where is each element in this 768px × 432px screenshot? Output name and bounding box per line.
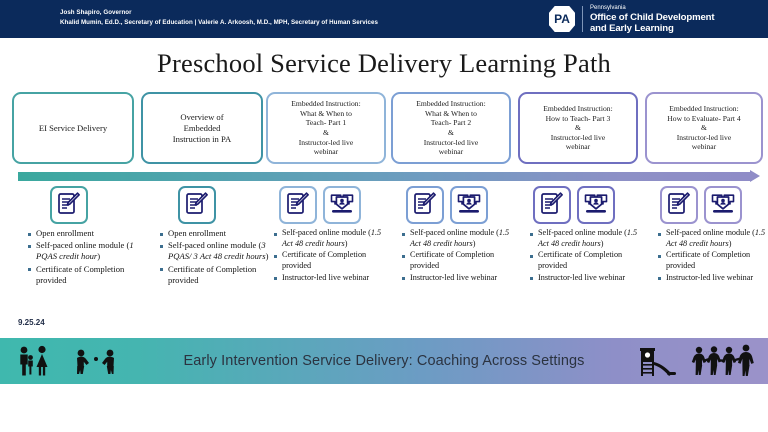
module-document-icon [539, 190, 565, 221]
stage-line: webinar [416, 147, 485, 157]
stage-line: How to Evaluate- Part 4 [667, 114, 740, 124]
bullet-list-2: Open enrollmentSelf-paced online module … [160, 228, 272, 286]
webinar-icon [710, 190, 736, 221]
bullet-item: Self-paced online module (1.5 Act 48 cre… [658, 228, 766, 249]
stage-box-row: EI Service Delivery Overview ofEmbeddedI… [0, 92, 768, 170]
stage-box-4[interactable]: Embedded Instruction:What & When toTeach… [391, 92, 511, 164]
detail-column-5: Self-paced online module (1.5 Act 48 cre… [530, 228, 638, 285]
stage-line: Instructor-led live [543, 133, 612, 143]
stage-box-6-label: Embedded Instruction:How to Evaluate- Pa… [663, 104, 744, 152]
module-document-icon [666, 190, 692, 221]
page-title: Preschool Service Delivery Learning Path [0, 48, 768, 79]
bullet-item: Certificate of Completion provided [28, 264, 138, 286]
stage-line: & [667, 123, 740, 133]
stage-line: Instructor-led live [416, 138, 485, 148]
secretaries-line: Khalid Mumin, Ed.D., Secretary of Educat… [60, 18, 480, 28]
stage-line: webinar [291, 147, 360, 157]
bullet-item: Open enrollment [28, 228, 138, 239]
detail-column-3: Self-paced online module (1.5 Act 48 cre… [274, 228, 390, 285]
footer-right-icons [634, 342, 756, 380]
stage-line: What & When to [416, 109, 485, 119]
stage-box-2[interactable]: Overview ofEmbeddedInstruction in PA [141, 92, 263, 164]
footer-banner: Early Intervention Service Delivery: Coa… [0, 338, 768, 384]
bullet-item: Self-paced online module (1.5 Act 48 cre… [530, 228, 638, 249]
tile-webinar-6[interactable] [704, 186, 742, 224]
stage-box-3-label: Embedded Instruction:What & When toTeach… [287, 99, 364, 157]
stage-box-4-label: Embedded Instruction:What & When toTeach… [412, 99, 489, 157]
tile-module-6[interactable] [660, 186, 698, 224]
stage-line: & [543, 123, 612, 133]
bullet-item: Open enrollment [160, 228, 272, 239]
logo-divider [582, 6, 583, 32]
bullet-item: Instructor-led live webinar [530, 273, 638, 284]
stage-line: What & When to [291, 109, 360, 119]
bullet-item: Self-paced online module (1 PQAS credit … [28, 240, 138, 262]
bullet-item: Instructor-led live webinar [658, 273, 766, 284]
stage-line: Teach- Part 2 [416, 118, 485, 128]
detail-column-6: Self-paced online module (1.5 Act 48 cre… [658, 228, 766, 285]
stage-line: Embedded [173, 123, 231, 134]
detail-column-1: Open enrollmentSelf-paced online module … [28, 228, 138, 287]
progress-arrow-bar [18, 172, 752, 181]
stage-line: webinar [667, 142, 740, 152]
stage-line: & [416, 128, 485, 138]
webinar-icon [456, 190, 482, 221]
bullet-list-5: Self-paced online module (1.5 Act 48 cre… [530, 228, 638, 284]
stage-line: webinar [543, 142, 612, 152]
module-document-icon [412, 190, 438, 221]
tile-webinar-5[interactable] [577, 186, 615, 224]
detail-column-2: Open enrollmentSelf-paced online module … [160, 228, 272, 287]
stage-line: Embedded Instruction: [543, 104, 612, 114]
module-document-icon [56, 190, 82, 221]
logo-line-office: Office of Child Development [590, 12, 714, 23]
stage-box-3[interactable]: Embedded Instruction:What & When toTeach… [266, 92, 386, 164]
stage-line: & [291, 128, 360, 138]
arrow-head-icon [750, 170, 760, 182]
governor-line: Josh Shapiro, Governor [60, 8, 480, 18]
tile-module-5[interactable] [533, 186, 571, 224]
stage-line: Embedded Instruction: [416, 99, 485, 109]
stage-box-1-label: EI Service Delivery [35, 123, 111, 134]
stage-box-6[interactable]: Embedded Instruction:How to Evaluate- Pa… [645, 92, 763, 164]
tile-module-3[interactable] [279, 186, 317, 224]
bullet-item: Self-paced online module (1.5 Act 48 cre… [274, 228, 390, 249]
stage-line: Instruction in PA [173, 134, 231, 145]
bullet-item: Certificate of Completion provided [274, 250, 390, 271]
bullet-list-6: Self-paced online module (1.5 Act 48 cre… [658, 228, 766, 284]
children-group-icon [690, 344, 756, 378]
bullet-item: Self-paced online module (3 PQAS/ 3 Act … [160, 240, 272, 262]
detail-columns: Open enrollmentSelf-paced online module … [0, 228, 768, 328]
bullet-item: Instructor-led live webinar [402, 273, 518, 284]
stage-line: Embedded Instruction: [667, 104, 740, 114]
ocdel-logo: PA Pennsylvania Office of Child Developm… [549, 4, 714, 34]
bullet-item: Instructor-led live webinar [274, 273, 390, 284]
stage-line: Overview of [173, 112, 231, 123]
stage-line: Embedded Instruction: [291, 99, 360, 109]
tile-webinar-4[interactable] [450, 186, 488, 224]
logo-line-early-learning: and Early Learning [590, 23, 714, 34]
date-stamp: 9.25.24 [18, 318, 45, 327]
bullet-item: Certificate of Completion provided [530, 250, 638, 271]
stage-line: Instructor-led live [667, 133, 740, 143]
tile-module-2[interactable] [178, 186, 216, 224]
logo-line-pennsylvania: Pennsylvania [590, 4, 714, 12]
bullet-list-4: Self-paced online module (1.5 Act 48 cre… [402, 228, 518, 284]
officials-text: Josh Shapiro, Governor Khalid Mumin, Ed.… [60, 8, 480, 28]
bullet-item: Certificate of Completion provided [160, 264, 272, 286]
stage-box-5[interactable]: Embedded Instruction:How to Teach- Part … [518, 92, 638, 164]
stage-line: EI Service Delivery [39, 123, 107, 134]
stage-line: Instructor-led live [291, 138, 360, 148]
webinar-icon [329, 190, 355, 221]
tile-webinar-3[interactable] [323, 186, 361, 224]
bullet-list-1: Open enrollmentSelf-paced online module … [28, 228, 138, 286]
stage-line: How to Teach- Part 3 [543, 114, 612, 124]
playground-slide-icon [634, 344, 680, 378]
pa-keystone-icon: PA [549, 6, 575, 32]
bullet-item: Certificate of Completion provided [402, 250, 518, 271]
icon-tile-row [0, 186, 768, 226]
tile-module-1[interactable] [50, 186, 88, 224]
stage-box-1[interactable]: EI Service Delivery [12, 92, 134, 164]
module-document-icon [184, 190, 210, 221]
detail-column-4: Self-paced online module (1.5 Act 48 cre… [402, 228, 518, 285]
webinar-icon [583, 190, 609, 221]
page-header: Josh Shapiro, Governor Khalid Mumin, Ed.… [0, 0, 768, 38]
tile-module-4[interactable] [406, 186, 444, 224]
stage-line: Teach- Part 1 [291, 118, 360, 128]
stage-box-2-label: Overview ofEmbeddedInstruction in PA [169, 112, 235, 145]
bullet-list-3: Self-paced online module (1.5 Act 48 cre… [274, 228, 390, 284]
bullet-item: Certificate of Completion provided [658, 250, 766, 271]
bullet-item: Self-paced online module (1.5 Act 48 cre… [402, 228, 518, 249]
logo-text: Pennsylvania Office of Child Development… [590, 4, 714, 34]
stage-box-5-label: Embedded Instruction:How to Teach- Part … [539, 104, 616, 152]
module-document-icon [285, 190, 311, 221]
